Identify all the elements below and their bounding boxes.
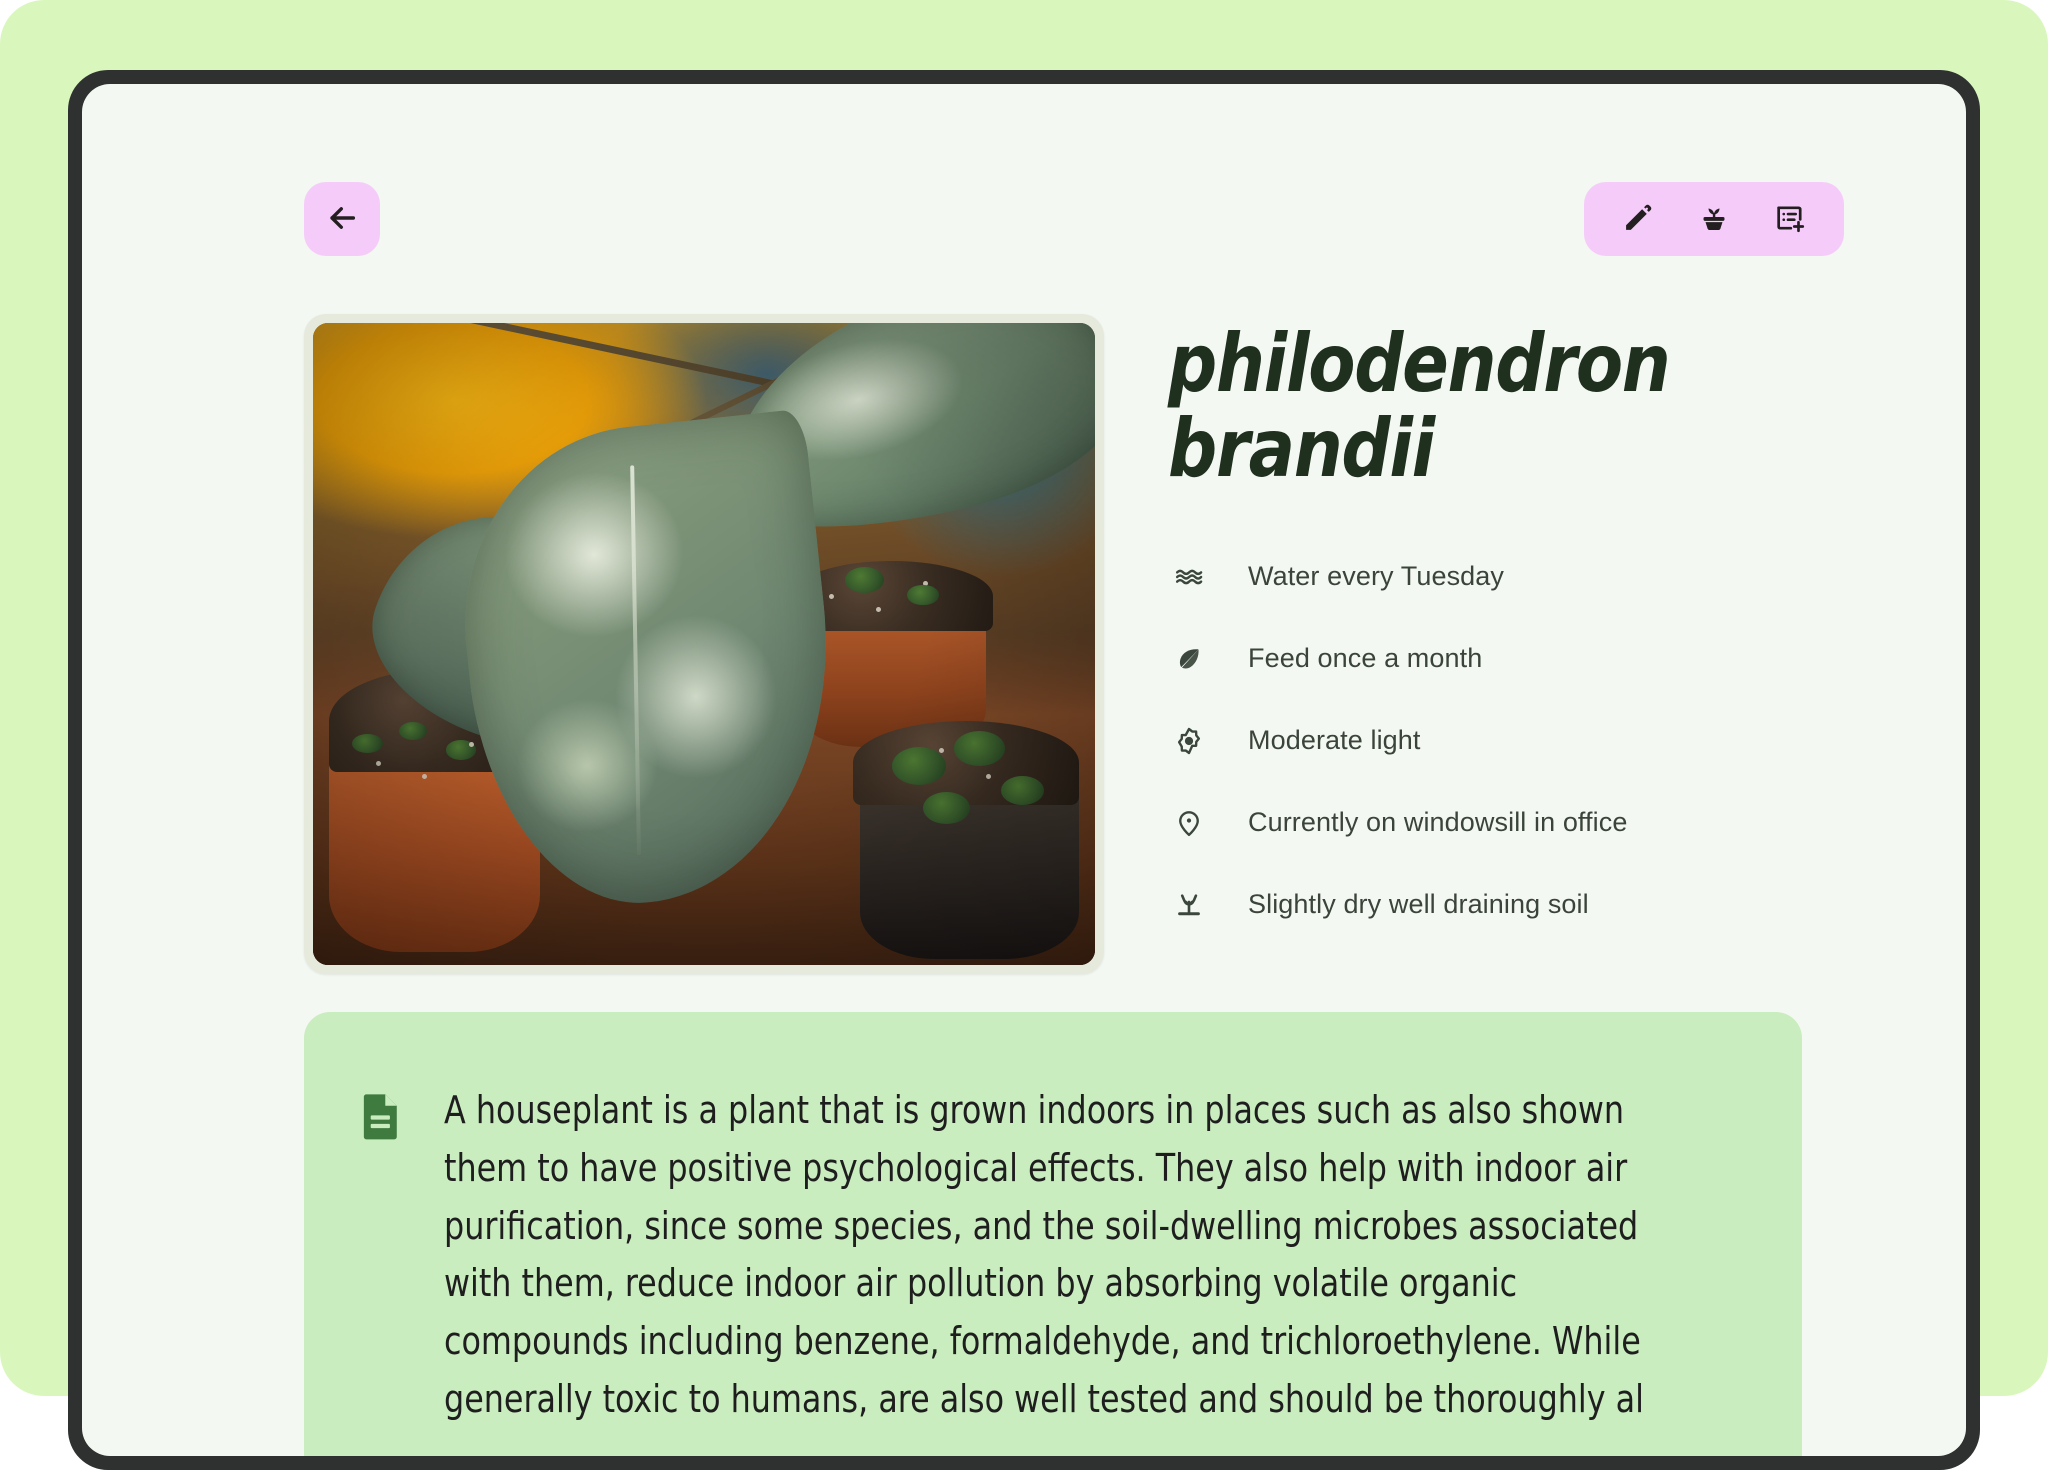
edit-button[interactable] (1618, 199, 1658, 239)
description-card: A houseplant is a plant that is grown in… (304, 1012, 1802, 1456)
potted-plant-icon (1697, 201, 1731, 238)
list-add-icon (1773, 201, 1807, 238)
sun-icon (1168, 720, 1210, 762)
attribute-label: Feed once a month (1248, 643, 1482, 674)
arrow-left-icon (325, 201, 359, 238)
attribute-label: Water every Tuesday (1248, 561, 1504, 592)
description-text: A houseplant is a plant that is grown in… (444, 1082, 1647, 1429)
waves-icon (1168, 556, 1210, 598)
leaf-icon (1168, 638, 1210, 680)
map-pin-icon (1168, 802, 1210, 844)
attribute-label: Moderate light (1248, 725, 1421, 756)
top-bar (82, 84, 1966, 274)
sprout-icon (1168, 884, 1210, 926)
attribute-row-location: Currently on windowsill in office (1168, 782, 1966, 864)
device-frame: philodendron brandii Water every Tuesday (68, 70, 1980, 1470)
toolbar (1584, 182, 1844, 256)
add-to-list-button[interactable] (1770, 199, 1810, 239)
hero-section: philodendron brandii Water every Tuesday (82, 314, 1966, 974)
app-screen: philodendron brandii Water every Tuesday (82, 84, 1966, 1456)
plant-attribute-list: Water every Tuesday Feed once a month (1168, 536, 1966, 946)
plant-photo-frame[interactable] (304, 314, 1104, 974)
plant-info-column: philodendron brandii Water every Tuesday (1168, 314, 1966, 946)
attribute-row-water: Water every Tuesday (1168, 536, 1966, 618)
attribute-row-soil: Slightly dry well draining soil (1168, 864, 1966, 946)
attribute-row-light: Moderate light (1168, 700, 1966, 782)
attribute-label: Currently on windowsill in office (1248, 807, 1627, 838)
repot-button[interactable] (1694, 199, 1734, 239)
back-button[interactable] (304, 182, 380, 256)
pencil-icon (1621, 201, 1655, 238)
attribute-label: Slightly dry well draining soil (1248, 889, 1589, 920)
document-icon (360, 1092, 402, 1140)
plant-photo (313, 323, 1095, 965)
page-title: philodendron brandii (1168, 322, 1854, 492)
attribute-row-feed: Feed once a month (1168, 618, 1966, 700)
